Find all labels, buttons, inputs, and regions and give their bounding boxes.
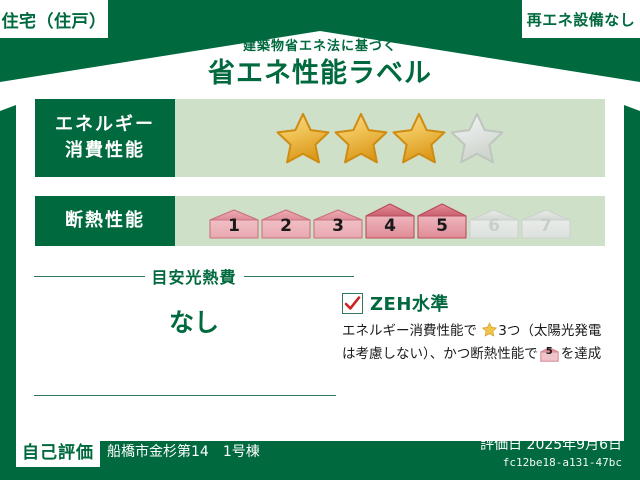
- housing-type-tag: 住宅（住戸）: [0, 0, 108, 38]
- insulation-grade-number: 5: [417, 216, 467, 236]
- evaluation-date: 評価日 2025年9月6日: [480, 436, 622, 455]
- energy-consumption-label-line1: エネルギー: [55, 112, 155, 138]
- energy-performance-label: 住宅（住戸） 再エネ設備なし 建築物省エネ法に基づく 省エネ性能ラベル エネルギ…: [0, 0, 640, 480]
- footer-left: 自己評価 船橋市金杉第14 1号棟: [16, 435, 260, 467]
- insulation-performance-value: 1234567: [175, 196, 605, 246]
- zeh-description: エネルギー消費性能で 3つ（太陽光発電 は考慮しない）、かつ断熱性能で 5 を達…: [342, 321, 610, 365]
- insulation-grade-scale: 1234567: [209, 203, 571, 239]
- zeh-desc-part-a: エネルギー消費性能で: [342, 323, 477, 339]
- house-grade-icon: 5: [540, 347, 559, 362]
- check-icon: [342, 293, 363, 314]
- energy-consumption-label-line2: 消費性能: [65, 138, 145, 164]
- zeh-desc-part-b: 3つ（太陽光発電: [498, 323, 601, 339]
- insulation-grade-3: 3: [313, 209, 363, 239]
- insulation-grade-number: 7: [521, 216, 571, 236]
- insulation-performance-label-text: 断熱性能: [65, 210, 145, 232]
- energy-consumption-label: エネルギー 消費性能: [35, 99, 175, 177]
- utility-cost-value: なし: [34, 303, 354, 339]
- insulation-performance-row: 断熱性能 1234567: [35, 196, 605, 246]
- label-identifier: fc12be18-a131-47bc: [480, 455, 622, 470]
- heading-rule-right: [244, 276, 355, 277]
- heading-rule-left: [34, 276, 145, 277]
- utility-cost-caption: 目安光熱費: [152, 264, 237, 288]
- insulation-grade-number: 2: [261, 216, 311, 236]
- star-icon: [478, 325, 497, 341]
- insulation-grade-number: 4: [365, 216, 415, 236]
- zeh-block: ZEH水準 エネルギー消費性能で 3つ（太陽光発電 は考慮しない）、かつ断熱性能…: [342, 290, 610, 365]
- zeh-desc-part-c: は考慮しない）、かつ断熱性能で: [342, 346, 538, 362]
- insulation-grade-6: 6: [469, 209, 519, 239]
- zeh-heading: ZEH水準: [342, 290, 610, 316]
- insulation-performance-label: 断熱性能: [35, 196, 175, 246]
- section-divider-bottom: [34, 395, 336, 396]
- house-grade-icon-number: 5: [540, 341, 559, 362]
- insulation-grade-5: 5: [417, 203, 467, 239]
- star-icon-empty: [450, 111, 504, 165]
- zeh-title: ZEH水準: [370, 290, 449, 316]
- insulation-grade-2: 2: [261, 209, 311, 239]
- star-icon-filled: [334, 111, 388, 165]
- housing-type-tag-label: 住宅（住戸）: [2, 7, 107, 32]
- renewable-energy-tag: 再エネ設備なし: [522, 0, 640, 38]
- self-evaluation-tag: 自己評価: [16, 435, 100, 467]
- label-title-block: 建築物省エネ法に基づく 省エネ性能ラベル: [0, 38, 640, 91]
- star-rating: [276, 111, 504, 165]
- building-name: 船橋市金杉第14 1号棟: [107, 441, 260, 461]
- energy-consumption-value: [175, 99, 605, 177]
- insulation-grade-number: 6: [469, 216, 519, 236]
- energy-consumption-row: エネルギー 消費性能: [35, 99, 605, 177]
- insulation-grade-4: 4: [365, 203, 415, 239]
- label-card: エネルギー 消費性能 断熱性能 1234567 目安光熱費 なし: [20, 88, 620, 437]
- star-icon-filled: [392, 111, 446, 165]
- label-subtitle: 建築物省エネ法に基づく: [0, 38, 640, 56]
- insulation-grade-number: 1: [209, 216, 259, 236]
- renewable-energy-tag-label: 再エネ設備なし: [527, 9, 636, 30]
- star-icon-filled: [276, 111, 330, 165]
- insulation-grade-number: 3: [313, 216, 363, 236]
- insulation-grade-7: 7: [521, 209, 571, 239]
- insulation-grade-1: 1: [209, 209, 259, 239]
- zeh-desc-part-d: を達成: [561, 346, 602, 362]
- utility-cost-heading: 目安光熱費: [34, 264, 354, 288]
- label-title: 省エネ性能ラベル: [0, 57, 640, 91]
- footer-right: 評価日 2025年9月6日 fc12be18-a131-47bc: [480, 436, 622, 470]
